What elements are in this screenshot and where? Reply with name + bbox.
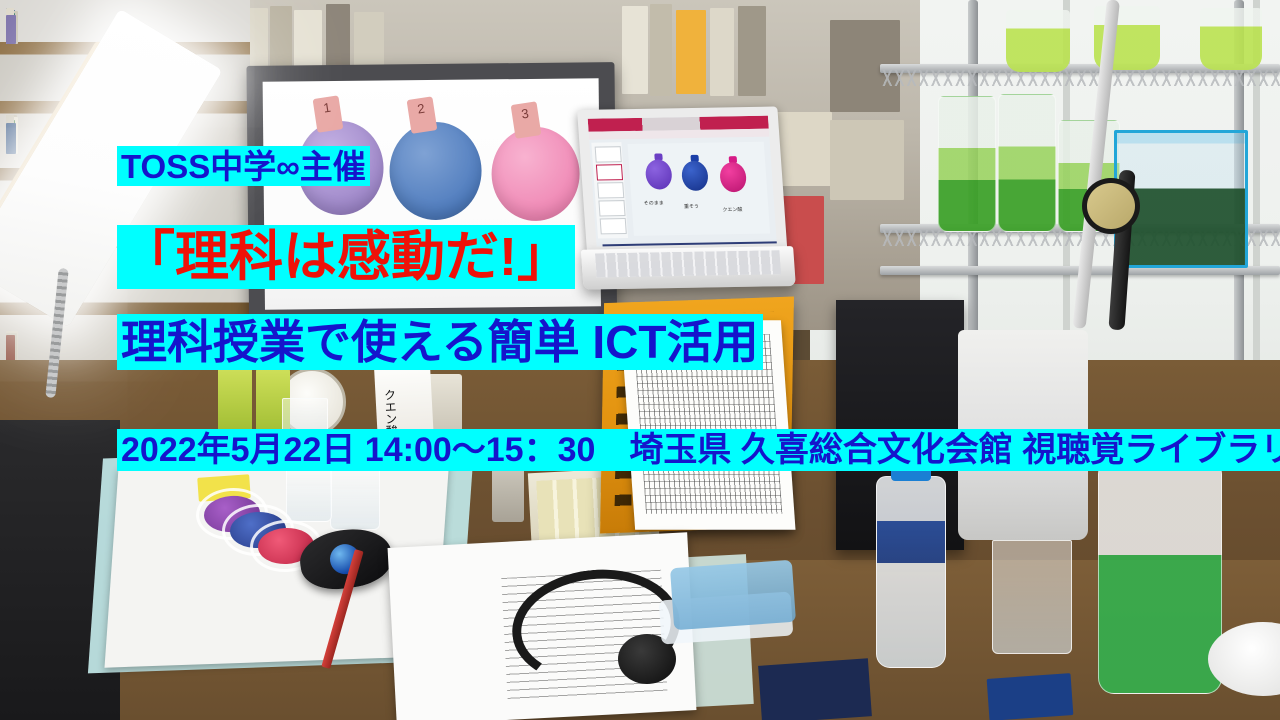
overlay-title-line: 「理科は感動だ!」 — [117, 225, 575, 289]
slide-dish-2 — [681, 161, 709, 191]
slide-thumbnail-panel[interactable] — [591, 142, 628, 238]
overlay-organizer-line: TOSS中学∞主催 — [117, 146, 370, 186]
slide-label-3: クエン酸 — [722, 206, 743, 213]
slide-dish-3 — [719, 162, 747, 192]
slide-label-1: そのまま — [643, 199, 664, 206]
overlay-text-title: 「理科は感動だ!」 — [121, 230, 571, 284]
dish-tag-1: 1 — [313, 95, 344, 133]
laptop-keyboard[interactable] — [595, 250, 781, 277]
overlay-text-organizer: TOSS中学∞主催 — [121, 150, 366, 183]
overlay-datetime-venue-line: 2022年5月22日 14:00〜15：30 埼玉県 久喜総合文化会館 視聴覚ラ… — [117, 429, 1280, 471]
media-case — [987, 673, 1074, 720]
dish-tag-3: 3 — [511, 101, 542, 139]
overlay-subtitle-line: 理科授業で使える簡単 ICT活用 — [117, 314, 763, 370]
dish-tag-2: 2 — [407, 96, 438, 134]
laptop-base — [581, 246, 796, 290]
microphone-head — [1082, 178, 1140, 234]
algae-flask — [1006, 10, 1070, 72]
navy-folder — [758, 658, 872, 720]
laptop-screen[interactable]: そのまま 重そう クエン酸 — [588, 116, 777, 247]
cut-bottle-beaker — [992, 540, 1072, 654]
slide-dish-1 — [645, 159, 673, 189]
blue-storage-container — [670, 560, 796, 630]
bottle-label — [877, 521, 945, 563]
glass-beaker — [286, 468, 332, 522]
algae-flask — [1200, 8, 1262, 70]
algae-culture-bottle — [998, 94, 1056, 232]
monitor-petri-dish-3: 3 — [491, 126, 580, 221]
overlay-text-subtitle: 理科授業で使える簡単 ICT活用 — [121, 319, 759, 365]
slide-label-2: 重そう — [684, 203, 700, 210]
current-slide: そのまま 重そう クエン酸 — [628, 142, 771, 236]
laptop-lid: そのまま 重そう クエン酸 — [577, 106, 788, 259]
overlay-text-datetime-venue: 2022年5月22日 14:00〜15：30 埼玉県 久喜総合文化会館 視聴覚ラ… — [121, 433, 1280, 467]
screenshot-frame: 1 2 3 クエン酸 — [0, 0, 1280, 720]
monitor-petri-dish-2: 2 — [389, 121, 482, 220]
water-bottle — [876, 476, 946, 668]
taskbar — [602, 241, 776, 246]
green-liquid-bottle — [1098, 462, 1222, 694]
laptop[interactable]: そのまま 重そう クエン酸 — [571, 101, 796, 311]
glass-beaker — [330, 468, 380, 530]
algae-culture-bottle — [938, 96, 996, 232]
